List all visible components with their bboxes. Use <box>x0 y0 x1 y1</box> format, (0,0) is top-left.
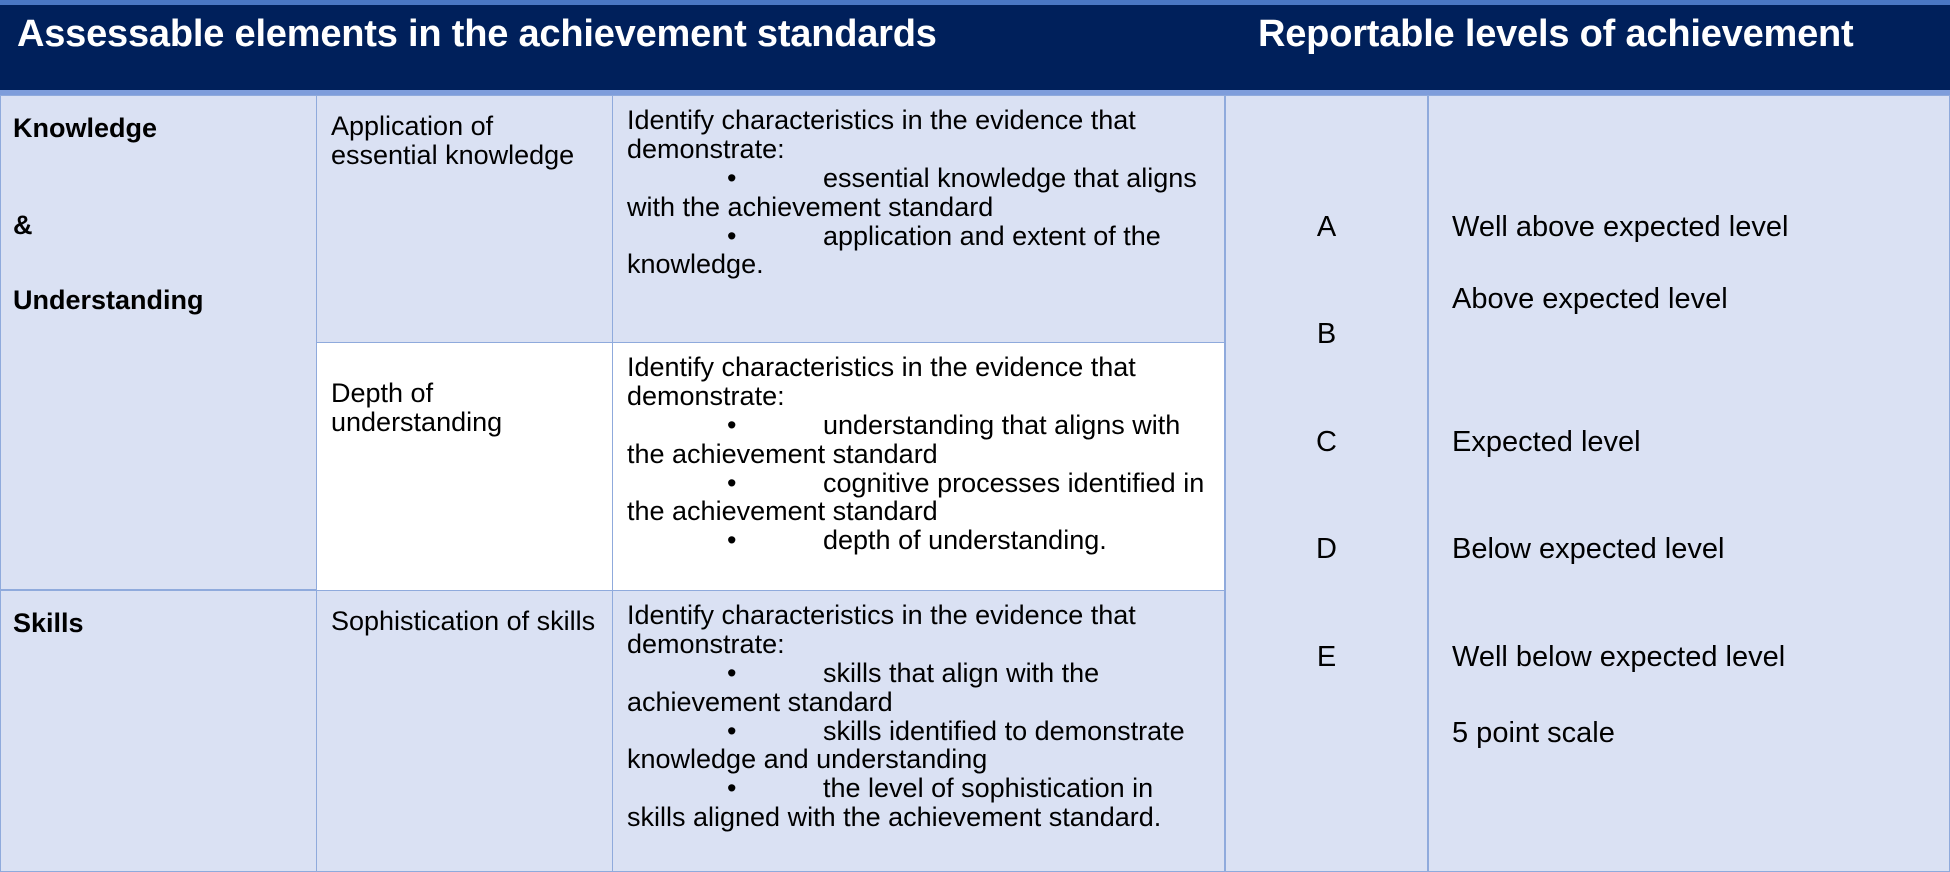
grade-letter-e: E <box>1225 643 1428 672</box>
grade-letter-a: A <box>1225 213 1428 242</box>
element-label-depth-of-understanding: Depth of understanding <box>331 379 604 437</box>
descriptor-bullets-row-1: •essential knowledge that aligns with th… <box>627 164 1214 280</box>
bullet-icon: • <box>727 469 823 498</box>
level-description-above: Above expected level <box>1452 285 1728 314</box>
category-label-skills: Skills <box>13 609 84 638</box>
element-cell-depth-of-understanding: Depth of understanding <box>316 342 613 591</box>
bullet-text: understanding that aligns with the achie… <box>627 410 1180 469</box>
descriptor-bullets-row-3: •skills that align with the achievement … <box>627 659 1214 832</box>
category-cell-knowledge-understanding: Knowledge & Understanding <box>0 95 317 590</box>
category-label-ampersand: & <box>13 211 33 240</box>
header-banner: Assessable elements in the achievement s… <box>0 0 1950 95</box>
category-label-understanding: Understanding <box>13 286 204 315</box>
category-label-knowledge: Knowledge <box>13 114 157 143</box>
grade-letter-d: D <box>1225 535 1428 564</box>
bullet-icon: • <box>727 411 823 440</box>
level-description-well-above: Well above expected level <box>1452 213 1788 242</box>
level-description-well-below: Well below expected level <box>1452 643 1785 672</box>
bullet-icon: • <box>727 659 823 688</box>
bullet-text: essential knowledge that aligns with the… <box>627 163 1197 222</box>
list-item: •application and extent of the knowledge… <box>627 222 1214 280</box>
bullet-icon: • <box>727 526 823 555</box>
element-cell-application-of-essential-knowledge: Application of essential knowledge <box>316 95 613 343</box>
list-item: •depth of understanding. <box>627 526 1214 555</box>
bullet-text: application and extent of the knowledge. <box>627 221 1161 280</box>
category-cell-skills: Skills <box>0 590 317 872</box>
descriptor-cell-row-3: Identify characteristics in the evidence… <box>612 590 1225 872</box>
descriptor-lead-in-row-3: Identify characteristics in the evidence… <box>627 601 1214 659</box>
bullet-text: the level of sophistication in skills al… <box>627 773 1161 832</box>
descriptor-lead-in-row-2: Identify characteristics in the evidence… <box>627 353 1214 411</box>
header-title-reportable-levels: Reportable levels of achievement <box>1258 15 1854 53</box>
element-label-application-of-essential-knowledge: Application of essential knowledge <box>331 112 604 170</box>
list-item: •understanding that aligns with the achi… <box>627 411 1214 469</box>
list-item: •skills that align with the achievement … <box>627 659 1214 717</box>
bullet-icon: • <box>727 164 823 193</box>
grade-letter-b: B <box>1225 320 1428 349</box>
element-cell-sophistication-of-skills: Sophistication of skills <box>316 590 613 872</box>
scale-note: 5 point scale <box>1452 719 1615 748</box>
level-description-expected: Expected level <box>1452 428 1641 457</box>
list-item: •cognitive processes identified in the a… <box>627 469 1214 527</box>
descriptor-lead-in-row-1: Identify characteristics in the evidence… <box>627 106 1214 164</box>
list-item: •the level of sophistication in skills a… <box>627 774 1214 832</box>
bullet-icon: • <box>727 774 823 803</box>
grade-letter-c: C <box>1225 428 1428 457</box>
list-item: •essential knowledge that aligns with th… <box>627 164 1214 222</box>
bullet-text: depth of understanding. <box>823 525 1107 555</box>
list-item: •skills identified to demonstrate knowle… <box>627 717 1214 775</box>
assessment-standards-table: Assessable elements in the achievement s… <box>0 0 1950 872</box>
descriptor-cell-row-1: Identify characteristics in the evidence… <box>612 95 1225 343</box>
descriptor-bullets-row-2: •understanding that aligns with the achi… <box>627 411 1214 555</box>
header-title-assessable-elements: Assessable elements in the achievement s… <box>17 15 937 53</box>
bullet-text: cognitive processes identified in the ac… <box>627 468 1204 527</box>
bullet-text: skills identified to demonstrate knowled… <box>627 716 1185 775</box>
bullet-icon: • <box>727 222 823 251</box>
bullet-text: skills that align with the achievement s… <box>627 658 1099 717</box>
bullet-icon: • <box>727 717 823 746</box>
level-description-below: Below expected level <box>1452 535 1724 564</box>
descriptor-cell-row-2: Identify characteristics in the evidence… <box>612 342 1225 591</box>
element-label-sophistication-of-skills: Sophistication of skills <box>331 607 604 636</box>
